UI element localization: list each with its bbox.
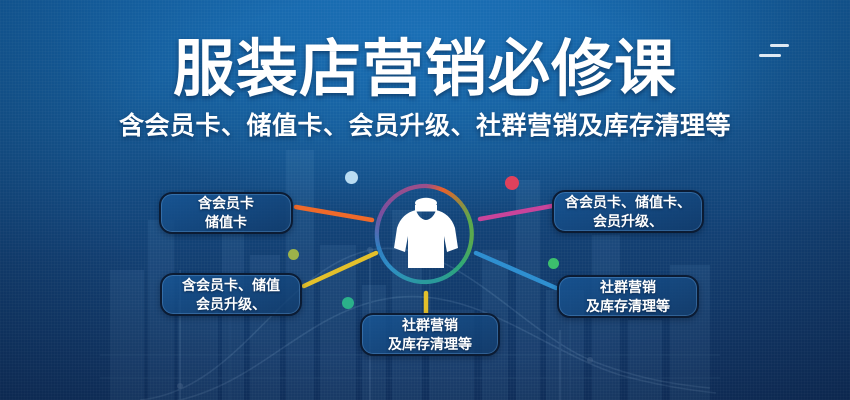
label-line-2: 及库存清理等 <box>586 297 670 316</box>
decorative-dash-icon <box>770 44 789 47</box>
page-subtitle: 含会员卡、储值卡、会员升级、社群营销及库存清理等 <box>0 111 850 141</box>
decorative-dash-icon <box>759 54 781 57</box>
label-line-1: 含会员卡、储值卡、 <box>565 193 691 212</box>
label-line-1: 含会员卡、储值 <box>182 276 280 295</box>
label-line-2: 及库存清理等 <box>388 335 472 354</box>
label-line-2: 储值卡 <box>205 213 247 232</box>
label-line-2: 会员升级、 <box>196 295 266 314</box>
label-box-top-left[interactable]: 含会员卡 储值卡 <box>159 192 293 234</box>
header: 服装店营销必修课 含会员卡、储值卡、会员升级、社群营销及库存清理等 <box>0 36 850 141</box>
dot-red-top <box>505 176 519 190</box>
connector-bottom-right <box>476 253 556 288</box>
connector-top-right <box>480 206 552 219</box>
connector-top-left <box>296 207 372 220</box>
label-box-bottom-left[interactable]: 含会员卡、储值 会员升级、 <box>160 273 302 316</box>
label-line-2: 会员升级、 <box>593 212 663 231</box>
promo-banner: 服装店营销必修课 含会员卡、储值卡、会员升级、社群营销及库存清理等 <box>0 0 850 400</box>
dot-teal-bottom <box>342 297 354 309</box>
label-line-1: 含会员卡 <box>198 194 254 213</box>
connector-bottom-left <box>304 253 376 286</box>
center-node <box>368 176 484 292</box>
label-box-top-right[interactable]: 含会员卡、储值卡、 会员升级、 <box>552 190 704 233</box>
sweater-icon <box>394 196 458 272</box>
label-box-bottom-right[interactable]: 社群营销 及库存清理等 <box>557 275 699 318</box>
label-line-1: 社群营销 <box>600 278 656 297</box>
label-box-bottom-center[interactable]: 社群营销 及库存清理等 <box>360 313 500 356</box>
page-title: 服装店营销必修课 <box>0 36 850 104</box>
dot-green-right <box>548 258 559 269</box>
dot-lightblue-top <box>345 171 358 184</box>
label-line-1: 社群营销 <box>402 316 458 335</box>
dot-olive-left <box>288 249 299 260</box>
